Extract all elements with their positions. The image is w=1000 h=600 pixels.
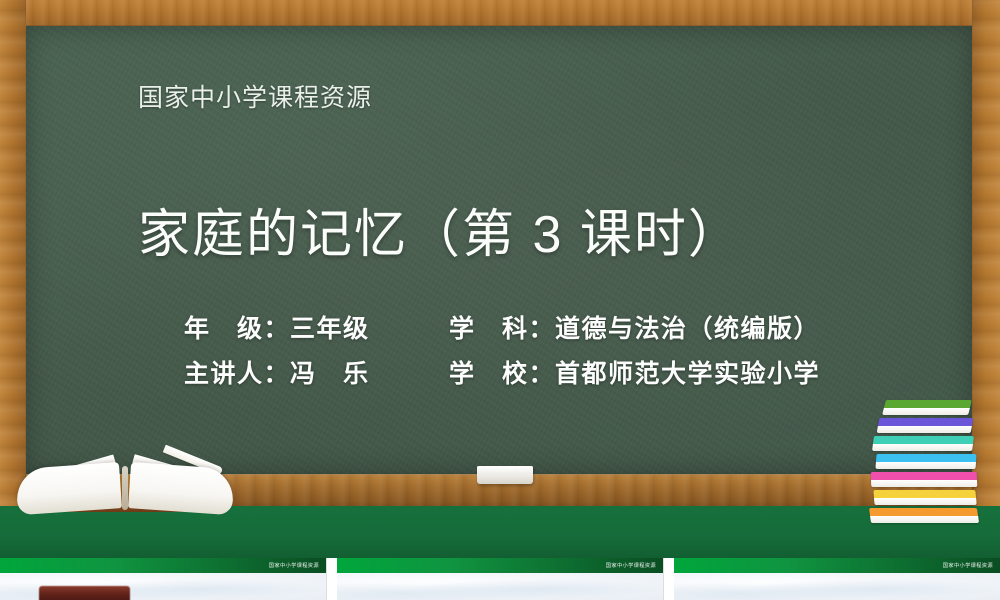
slide-thumbnail[interactable]: 国家中小学课程资源	[674, 558, 1000, 600]
stacked-book	[877, 418, 974, 433]
lesson-info-line-presenter-school: 主讲人：冯 乐 学 校：首都师范大学实验小学	[184, 351, 884, 396]
slide-thumbnail[interactable]: 国家中小学课程资源	[337, 558, 664, 600]
slide-thumbnail-row: 国家中小学课程资源 国家中小学课程资源 国家中小学课程资源	[0, 558, 1000, 600]
page-title: 家庭的记忆（第 3 课时）	[138, 192, 742, 267]
thumbnail-watermark: 国家中小学课程资源	[943, 562, 993, 569]
lesson-info-block: 年 级：三年级 学 科：道德与法治（统编版） 主讲人：冯 乐 学 校：首都师范大…	[184, 306, 884, 396]
thumbnail-watermark: 国家中小学课程资源	[606, 562, 656, 569]
presentation-slide: 国家中小学课程资源 家庭的记忆（第 3 课时） 年 级：三年级 学 科：道德与法…	[0, 0, 1000, 600]
open-book-icon	[12, 418, 238, 514]
stacked-book	[869, 508, 979, 523]
book-left-page	[15, 462, 122, 515]
thumbnail-content	[674, 573, 1000, 600]
stacked-book	[873, 490, 976, 505]
thumbnail-watermark: 国家中小学课程资源	[269, 562, 319, 569]
stacked-book	[872, 436, 974, 451]
thumbnail-header-bar: 国家中小学课程资源	[0, 558, 326, 573]
thumbnail-header-bar: 国家中小学课程资源	[674, 558, 1000, 573]
thumbnail-content	[0, 573, 326, 600]
thumbnail-content	[337, 573, 663, 600]
stacked-book	[871, 472, 978, 487]
frame-top-rail	[0, 0, 1000, 26]
thumbnail-photo	[39, 586, 130, 600]
brand-watermark-title: 国家中小学课程资源	[138, 78, 372, 114]
stacked-book	[882, 400, 972, 415]
stacked-book	[875, 454, 976, 469]
slide-thumbnail[interactable]: 国家中小学课程资源	[0, 558, 327, 600]
book-stack-icon	[868, 398, 986, 530]
eraser-icon	[477, 466, 533, 484]
lesson-info-line-grade-subject: 年 级：三年级 学 科：道德与法治（统编版）	[184, 306, 884, 351]
book-spine	[122, 466, 128, 510]
thumbnail-header-bar: 国家中小学课程资源	[337, 558, 663, 573]
